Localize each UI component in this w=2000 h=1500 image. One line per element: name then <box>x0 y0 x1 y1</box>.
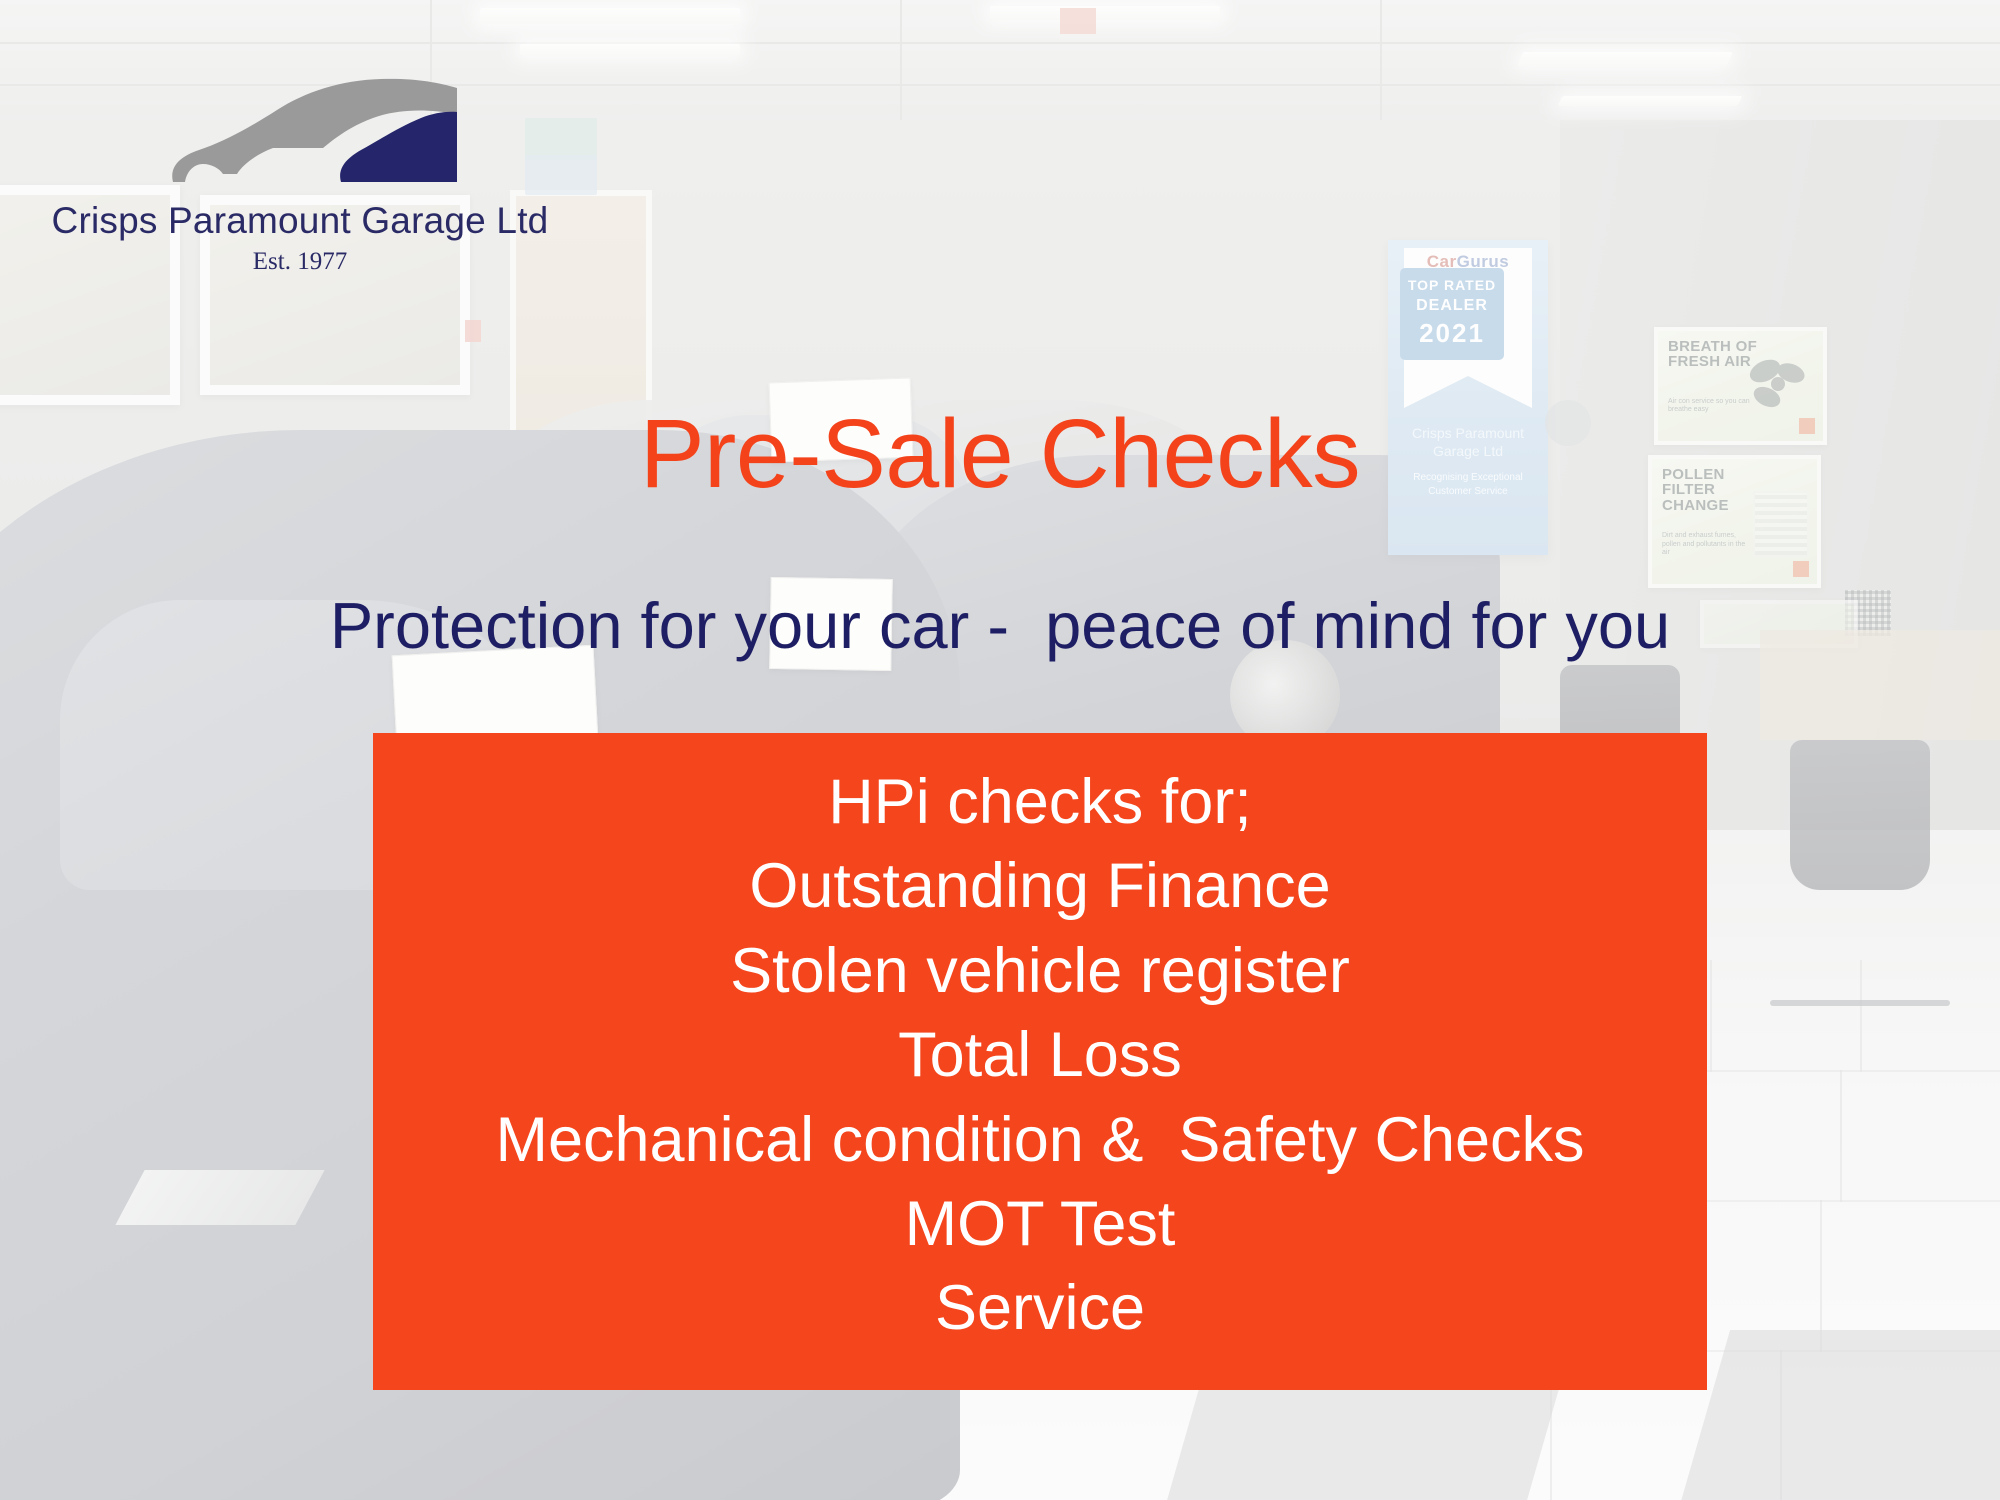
floor-tile <box>1710 960 1862 1072</box>
badge-year: 2021 <box>1400 320 1504 346</box>
ceiling-grid-line <box>1380 0 1382 120</box>
badge-line-1: TOP RATED <box>1400 278 1504 292</box>
floor-tile <box>1840 1070 2000 1202</box>
poster-logo-mark <box>1793 561 1809 577</box>
poster-body: Dirt and exhaust fumes, pollen and pollu… <box>1662 532 1752 558</box>
ceiling-grid-line <box>0 42 2000 44</box>
slide-canvas: CarGurus TOP RATED DEALER 2021 Crisps Pa… <box>0 0 2000 1500</box>
poster-title-line-1: BREATH OF <box>1668 339 1757 354</box>
company-name: Crisps Paramount Garage Ltd <box>40 200 560 242</box>
ceiling-grid-line <box>900 0 902 120</box>
panel-line: Stolen vehicle register <box>730 929 1350 1013</box>
company-logo: Crisps Paramount Garage Ltd Est. 1977 <box>40 70 560 190</box>
ceiling-vent <box>1060 8 1096 34</box>
floor-tile <box>1860 960 2000 1072</box>
top-rated-badge: TOP RATED DEALER 2021 <box>1400 268 1504 360</box>
slide-title: Pre-Sale Checks <box>0 398 2000 510</box>
office-chair <box>1790 740 1930 890</box>
badge-line-2: DEALER <box>1400 298 1504 314</box>
ceiling-light <box>1517 52 1733 66</box>
panel-line: Total Loss <box>898 1013 1182 1097</box>
panel-line: MOT Test <box>905 1182 1176 1266</box>
panel-line: Mechanical condition & Safety Checks <box>495 1098 1584 1182</box>
established-year: Est. 1977 <box>40 248 560 276</box>
wall-socket <box>465 320 481 342</box>
ceiling-light <box>520 44 740 56</box>
ceiling-light <box>480 8 740 24</box>
chair-base <box>1770 1000 1950 1006</box>
windshield-reflection <box>115 1170 324 1225</box>
panel-line: Outstanding Finance <box>749 844 1330 928</box>
panel-line: Service <box>935 1266 1145 1350</box>
checks-list-panel: HPi checks for; Outstanding Finance Stol… <box>373 733 1707 1390</box>
car-silhouette-icon <box>165 70 465 190</box>
floor-mat <box>1161 1390 1558 1500</box>
ceiling-light <box>1558 96 1743 106</box>
ceiling-light <box>990 6 1220 20</box>
slide-subtitle: Protection for your car - peace of mind … <box>0 588 2000 663</box>
panel-line: HPi checks for; <box>828 760 1252 844</box>
